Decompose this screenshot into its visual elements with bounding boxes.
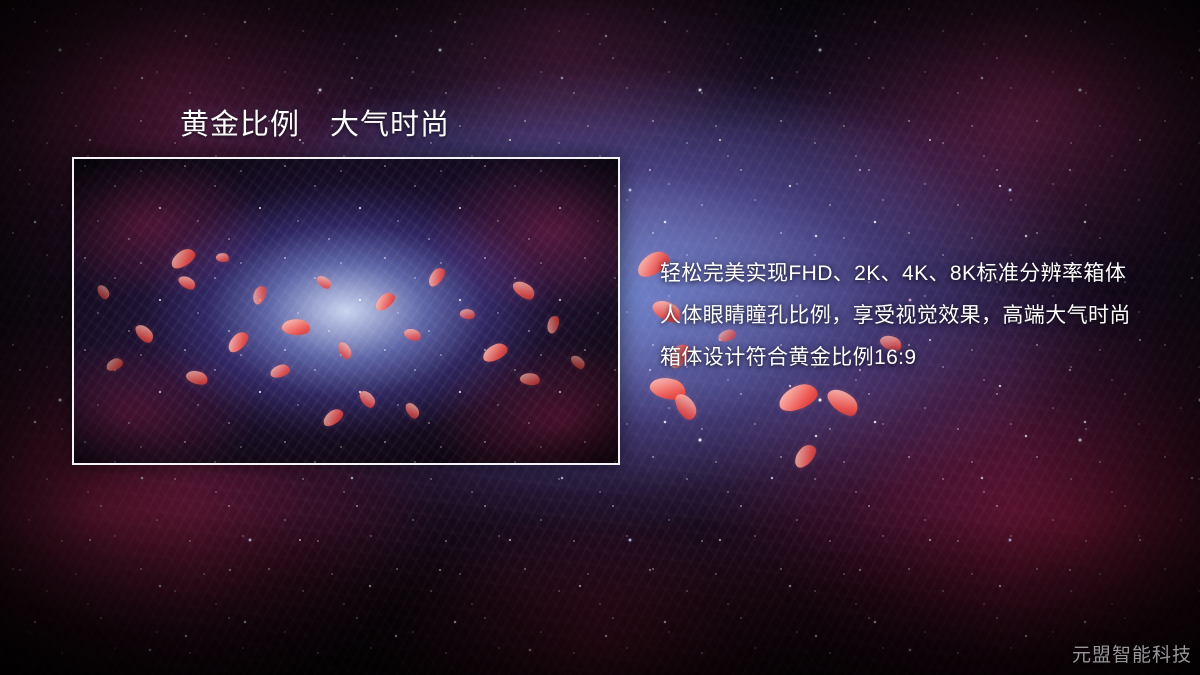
page-title: 黄金比例 大气时尚 — [180, 101, 450, 143]
flower-petal — [790, 441, 820, 471]
flower-petal — [824, 383, 863, 421]
product-photo-frame — [72, 157, 620, 465]
feature-line-1: 轻松完美实现FHD、2K、4K、8K标准分辨率箱体 — [660, 253, 1180, 295]
flower-petal — [775, 380, 820, 414]
company-watermark: 元盟智能科技 — [1072, 640, 1192, 667]
slide-canvas: 黄金比例 大气时尚 轻松完美实现FHD、2K、4K、8K标准分辨率箱体 人体眼睛… — [0, 0, 1200, 675]
feature-description-block: 轻松完美实现FHD、2K、4K、8K标准分辨率箱体 人体眼睛瞳孔比例，享受视觉效… — [660, 253, 1180, 379]
flower-petal — [672, 390, 700, 423]
feature-line-3: 箱体设计符合黄金比例16:9 — [660, 337, 1180, 379]
photo-vignette-layer — [74, 159, 618, 463]
product-photo-image — [74, 159, 618, 463]
feature-line-2: 人体眼睛瞳孔比例，享受视觉效果，高端大气时尚 — [660, 295, 1180, 337]
